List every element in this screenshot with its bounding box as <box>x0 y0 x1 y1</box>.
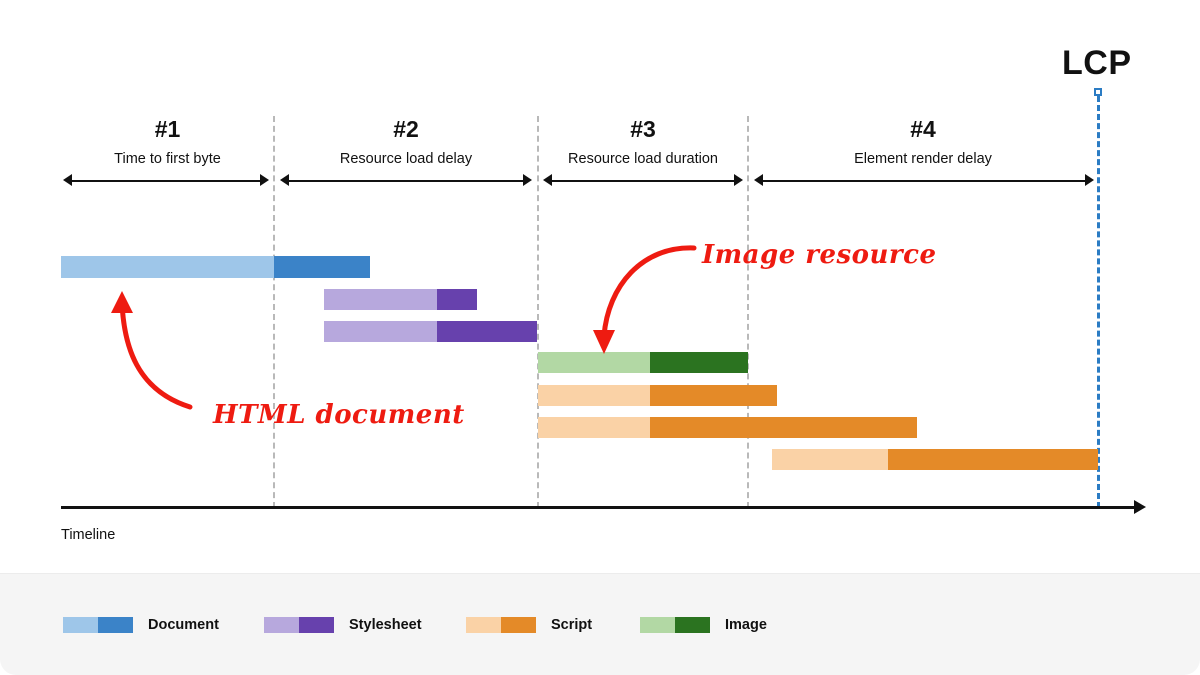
phase-4-description: Element render delay <box>748 152 1098 168</box>
arrow-head-right-icon <box>523 174 532 186</box>
legend-label-image: Image <box>725 617 767 633</box>
legend-item-image[interactable]: Image <box>640 617 767 633</box>
bar-segment-wait <box>324 289 437 310</box>
bar-segment-wait <box>772 449 888 470</box>
waterfall-bar-stylesheet-1 <box>324 289 477 310</box>
phase-1-span-arrow <box>63 174 269 187</box>
lcp-marker-square <box>1094 88 1102 96</box>
waterfall-bar-document <box>61 256 370 278</box>
arrow-shaft <box>549 180 737 182</box>
arrow-head-right-icon <box>734 174 743 186</box>
legend-item-stylesheet[interactable]: Stylesheet <box>264 617 422 633</box>
legend-label-stylesheet: Stylesheet <box>349 617 422 633</box>
html-document-annotation-text: HTML document <box>213 400 465 430</box>
waterfall-bar-stylesheet-2 <box>324 321 537 342</box>
phase-3-number: #3 <box>538 118 748 141</box>
arrow-head-right-icon <box>1085 174 1094 186</box>
waterfall-bar-script-2 <box>538 417 917 438</box>
phase-divider-3 <box>747 116 749 508</box>
arrow-shaft <box>760 180 1088 182</box>
diagram-card: LCP #1 Time to first byte #2 Resource lo… <box>0 0 1200 675</box>
timeline-axis-label: Timeline <box>61 527 115 543</box>
legend-item-document[interactable]: Document <box>63 617 219 633</box>
legend-item-script[interactable]: Script <box>466 617 592 633</box>
waterfall-bar-script-3 <box>772 449 1098 470</box>
bar-segment-load <box>650 385 777 406</box>
phase-3-span-arrow <box>543 174 743 187</box>
phase-4-number: #4 <box>748 118 1098 141</box>
phase-2: #2 Resource load delay <box>274 118 538 168</box>
legend-swatch-stylesheet-icon <box>264 617 334 633</box>
legend-items: Document Stylesheet Script <box>0 574 1200 675</box>
legend-strip: Document Stylesheet Script <box>0 573 1200 675</box>
bar-segment-load <box>274 256 370 278</box>
arrow-head-right-icon <box>260 174 269 186</box>
bar-segment-wait <box>61 256 274 278</box>
timeline-axis <box>61 506 1136 509</box>
arrow-shaft <box>69 180 263 182</box>
lcp-label: LCP <box>1062 44 1132 83</box>
bar-segment-wait <box>324 321 437 342</box>
legend-swatch-document-icon <box>63 617 133 633</box>
phase-4-span-arrow <box>754 174 1094 187</box>
phase-3: #3 Resource load duration <box>538 118 748 168</box>
timeline-axis-arrow-icon <box>1134 500 1146 514</box>
phase-2-span-arrow <box>280 174 532 187</box>
phase-divider-2 <box>537 116 539 508</box>
phase-3-description: Resource load duration <box>538 152 748 168</box>
image-resource-annotation-text: Image resource <box>702 240 937 270</box>
bar-segment-wait <box>538 417 650 438</box>
legend-label-script: Script <box>551 617 592 633</box>
phase-1-description: Time to first byte <box>61 152 274 168</box>
arrow-shaft <box>286 180 526 182</box>
legend-label-document: Document <box>148 617 219 633</box>
waterfall-bar-script-1 <box>538 385 777 406</box>
bar-segment-wait <box>538 385 650 406</box>
phase-4: #4 Element render delay <box>748 118 1098 168</box>
phase-2-description: Resource load delay <box>274 152 538 168</box>
bar-segment-load <box>888 449 1098 470</box>
phase-2-number: #2 <box>274 118 538 141</box>
bar-segment-load <box>650 417 917 438</box>
bar-segment-load <box>437 289 477 310</box>
bar-segment-load <box>437 321 537 342</box>
legend-swatch-script-icon <box>466 617 536 633</box>
phase-1-number: #1 <box>61 118 274 141</box>
legend-swatch-image-icon <box>640 617 710 633</box>
phase-1: #1 Time to first byte <box>61 118 274 168</box>
